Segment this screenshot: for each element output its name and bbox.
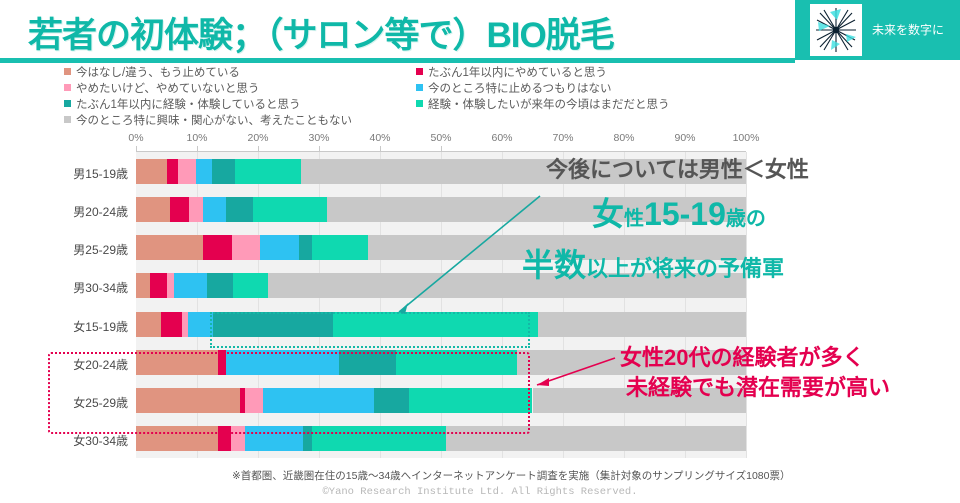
annotation-big2-suffix: 以上が将来の予備軍 [586,256,784,281]
bar-segment[interactable] [212,159,235,184]
legend-item[interactable]: 今はなし/違う、もう止めている [64,64,352,79]
bar-segment[interactable] [226,197,253,222]
annotation-big1-mid: 性 [624,208,644,230]
legend-label: 今のところ特に止めるつもりはない [428,80,612,96]
x-axis-tick-label: 20% [247,132,268,144]
y-axis-category-label: 男30-34歳 [0,279,128,296]
legend-item[interactable]: やめたいけど、やめていないと思う [64,80,352,95]
annotation-big1-suffix: 歳の [726,208,766,230]
x-axis-tickmark [197,146,198,152]
legend-swatch-icon [64,100,71,107]
x-axis-tickmark [136,146,137,152]
bar-segment[interactable] [136,312,161,337]
x-axis-tick-label: 30% [308,132,329,144]
bar-segment[interactable] [196,159,211,184]
legend-swatch-icon [416,68,423,75]
bar-segment[interactable] [170,197,189,222]
bar-segment[interactable] [167,159,178,184]
legend-item[interactable]: 今のところ特に興味・関心がない、考えたこともない [64,112,352,127]
annotation-big1-number: 15-19 [644,196,726,232]
y-axis-category-label: 女15-19歳 [0,318,128,335]
legend-label: たぶん1年以内に経験・体験していると思う [76,96,301,112]
x-axis-tickmark [441,146,442,152]
bar-segment[interactable] [312,235,369,260]
footnote: ※首都圏、近畿圏在住の15歳～34歳へインターネットアンケート調査を実施（集計対… [232,468,790,483]
legend-swatch-icon [416,84,423,91]
annotation-half-or-more: 半数以上が将来の予備軍 [522,240,784,286]
x-axis-tick-label: 0% [128,132,143,144]
logo-tagline: 未来を数字に [872,21,944,38]
bar-segment[interactable] [167,273,174,298]
x-axis-tick-label: 100% [733,132,760,144]
bar-segment[interactable] [253,197,327,222]
x-axis-tick-label: 10% [186,132,207,144]
bar-segment[interactable] [299,235,311,260]
bar-segment[interactable] [136,235,203,260]
chart-legend: 今はなし/違う、もう止めているやめたいけど、やめていないと思うたぶん1年以内に経… [64,64,844,128]
legend-item[interactable]: たぶん1年以内に経験・体験していると思う [64,96,352,111]
x-axis-tickmark [258,146,259,152]
annotation-red-line-1: 女性20代の経験者が多く [620,340,864,372]
bar-segment[interactable] [136,273,150,298]
legend-swatch-icon [64,84,71,91]
bar-segment[interactable] [538,312,746,337]
annotation-red-line-2: 未経験でも潜在需要が高い [626,370,890,402]
bar-segment[interactable] [189,197,203,222]
page-header: 若者の初体験；（サロン等で）BIO脱毛 未来を数字に [0,0,960,62]
bar-segment[interactable] [203,235,232,260]
copyright: ©Yano Research Institute Ltd. All Rights… [0,486,960,498]
legend-swatch-icon [64,116,71,123]
bar-segment[interactable] [161,312,182,337]
legend-label: 今はなし/違う、もう止めている [76,64,240,80]
x-axis-tick-label: 90% [674,132,695,144]
bar-segment[interactable] [203,197,226,222]
bar-segment[interactable] [233,273,268,298]
y-axis-category-label: 女30-34歳 [0,432,128,449]
bar-segment[interactable] [150,273,167,298]
highlight-box-female-20s [48,352,530,434]
x-axis-tick-label: 80% [613,132,634,144]
x-axis-tickmark [319,146,320,152]
y-axis-category-label: 男25-29歳 [0,241,128,258]
y-axis-category-label: 男20-24歳 [0,203,128,220]
x-axis-tick-label: 60% [491,132,512,144]
annotation-big1-prefix: 女 [592,196,624,232]
bar-segment[interactable] [136,197,170,222]
legend-label: やめたいけど、やめていないと思う [76,80,259,96]
bar-segment[interactable] [178,159,196,184]
legend-column-left: 今はなし/違う、もう止めているやめたいけど、やめていないと思うたぶん1年以内に経… [64,64,352,128]
bar-segment[interactable] [207,273,233,298]
x-axis-tick-label: 40% [369,132,390,144]
legend-column-right: たぶん1年以内にやめていると思う今のところ特に止めるつもりはない経験・体験したい… [416,64,670,112]
x-axis-tick-label: 70% [552,132,573,144]
bar-segment[interactable] [235,159,301,184]
legend-swatch-icon [64,68,71,75]
highlight-box-female-15-19 [210,312,530,348]
legend-label: 経験・体験したいが来年の今頃はまだだと思う [428,96,670,112]
legend-label: たぶん1年以内にやめていると思う [428,64,607,80]
annotation-top: 今後については男性＜女性 [546,152,809,184]
legend-item[interactable]: 今のところ特に止めるつもりはない [416,80,670,95]
legend-item[interactable]: たぶん1年以内にやめていると思う [416,64,670,79]
x-axis-tickmark [380,146,381,152]
bar-segment[interactable] [174,273,207,298]
bar-segment[interactable] [260,235,299,260]
bar-segment[interactable] [232,235,260,260]
annotation-female-15-19: 女性15-19歳の [592,189,766,235]
legend-label: 今のところ特に興味・関心がない、考えたこともない [76,112,352,128]
header-rule [0,58,795,63]
legend-swatch-icon [416,100,423,107]
starburst-icon [810,4,862,56]
bar-segment[interactable] [136,159,167,184]
annotation-big2-prefix: 半数 [522,247,586,283]
legend-item[interactable]: 経験・体験したいが来年の今頃はまだだと思う [416,96,670,111]
page-title: 若者の初体験；（サロン等で）BIO脱毛 [28,7,614,58]
y-axis-category-label: 男15-19歳 [0,165,128,182]
x-axis-tick-label: 50% [430,132,451,144]
